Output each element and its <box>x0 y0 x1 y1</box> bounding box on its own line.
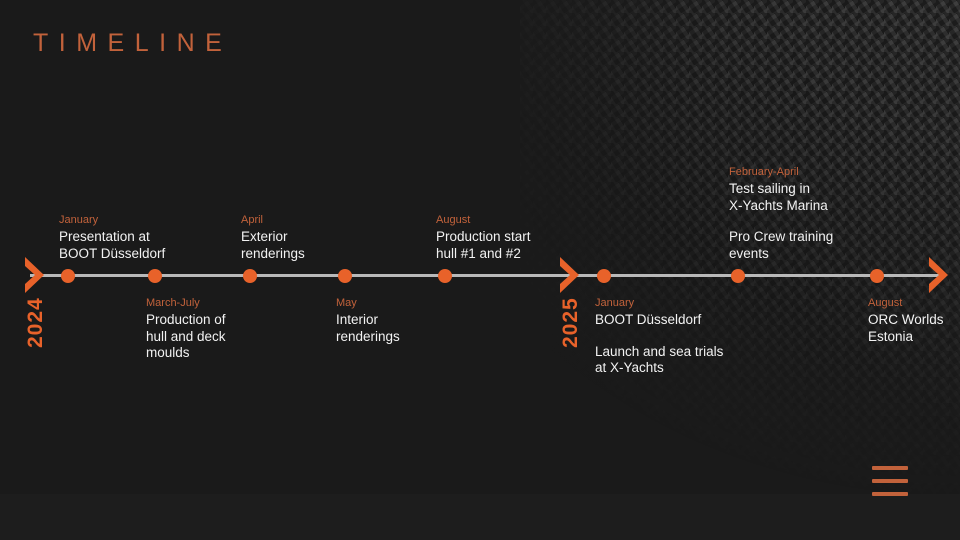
event-description-boot-dusseldorf-2025: BOOT Düsseldorf <box>595 312 723 329</box>
hamburger-menu-icon[interactable] <box>872 466 908 496</box>
event-description-interior-renderings: Interiorrenderings <box>336 312 400 345</box>
event-description-boot-dusseldorf-2024: Presentation atBOOT Düsseldorf <box>59 229 165 262</box>
event-line: Production of <box>146 312 226 329</box>
event-line: hull and deck <box>146 329 226 346</box>
year-chevron-2024 <box>22 255 48 295</box>
event-period-production-start: August <box>436 213 531 228</box>
timeline-event-exterior-renderings: AprilExteriorrenderings <box>241 213 305 262</box>
event-line: Estonia <box>868 329 944 346</box>
event-line: Launch and sea trials <box>595 344 723 361</box>
event-period-test-sailing: February-April <box>729 165 833 180</box>
event-line: Presentation at <box>59 229 165 246</box>
event-description-test-sailing: Test sailing inX-Yachts Marina <box>729 181 833 214</box>
year-chevron-2025 <box>557 255 583 295</box>
event-line: hull #1 and #2 <box>436 246 531 263</box>
event-description-production-start: Production starthull #1 and #2 <box>436 229 531 262</box>
event-line: X-Yachts Marina <box>729 198 833 215</box>
timeline-axis <box>30 274 940 277</box>
event-period-interior-renderings: May <box>336 296 400 311</box>
timeline-event-boot-dusseldorf-2025: JanuaryBOOT DüsseldorfLaunch and sea tri… <box>595 296 723 377</box>
timeline-end-arrow-icon <box>926 255 952 295</box>
timeline-dot-test-sailing[interactable] <box>731 269 745 283</box>
event-period-orc-worlds: August <box>868 296 944 311</box>
timeline-dot-production-start[interactable] <box>438 269 452 283</box>
timeline-dot-exterior-renderings[interactable] <box>243 269 257 283</box>
event-line: events <box>729 246 833 263</box>
event-period-boot-dusseldorf-2025: January <box>595 296 723 311</box>
event-period-boot-dusseldorf-2024: January <box>59 213 165 228</box>
event-line: Pro Crew training <box>729 229 833 246</box>
event-description-exterior-renderings: Exteriorrenderings <box>241 229 305 262</box>
event-period-exterior-renderings: April <box>241 213 305 228</box>
event-description-secondary-boot-dusseldorf-2025: Launch and sea trialsat X-Yachts <box>595 344 723 377</box>
timeline-dot-boot-dusseldorf-2025[interactable] <box>597 269 611 283</box>
timeline-dot-orc-worlds[interactable] <box>870 269 884 283</box>
timeline-event-boot-dusseldorf-2024: JanuaryPresentation atBOOT Düsseldorf <box>59 213 165 262</box>
event-line: Test sailing in <box>729 181 833 198</box>
timeline-event-production-start: AugustProduction starthull #1 and #2 <box>436 213 531 262</box>
timeline-slide: TIMELINE 20242025 JanuaryPresentation at… <box>0 0 960 540</box>
year-label-2024: 2024 <box>24 297 48 348</box>
menu-bar-1 <box>872 466 908 470</box>
timeline-event-orc-worlds: AugustORC WorldsEstonia <box>868 296 944 345</box>
menu-bar-2 <box>872 479 908 483</box>
timeline-event-test-sailing: February-AprilTest sailing inX-Yachts Ma… <box>729 165 833 262</box>
timeline-dot-interior-renderings[interactable] <box>338 269 352 283</box>
event-line: Exterior <box>241 229 305 246</box>
event-line: BOOT Düsseldorf <box>595 312 723 329</box>
menu-bar-3 <box>872 492 908 496</box>
year-label-2025: 2025 <box>559 297 583 348</box>
event-line: BOOT Düsseldorf <box>59 246 165 263</box>
event-description-orc-worlds: ORC WorldsEstonia <box>868 312 944 345</box>
timeline-event-interior-renderings: MayInteriorrenderings <box>336 296 400 345</box>
event-line: renderings <box>241 246 305 263</box>
event-line: moulds <box>146 345 226 362</box>
event-line: Production start <box>436 229 531 246</box>
event-period-hull-deck-moulds: March-July <box>146 296 226 311</box>
event-line: at X-Yachts <box>595 360 723 377</box>
event-line: Interior <box>336 312 400 329</box>
event-line: renderings <box>336 329 400 346</box>
timeline-dot-boot-dusseldorf-2024[interactable] <box>61 269 75 283</box>
event-description-secondary-test-sailing: Pro Crew trainingevents <box>729 229 833 262</box>
event-description-hull-deck-moulds: Production ofhull and deckmoulds <box>146 312 226 362</box>
timeline-dot-hull-deck-moulds[interactable] <box>148 269 162 283</box>
page-title: TIMELINE <box>33 29 232 58</box>
event-line: ORC Worlds <box>868 312 944 329</box>
timeline-event-hull-deck-moulds: March-JulyProduction ofhull and deckmoul… <box>146 296 226 362</box>
